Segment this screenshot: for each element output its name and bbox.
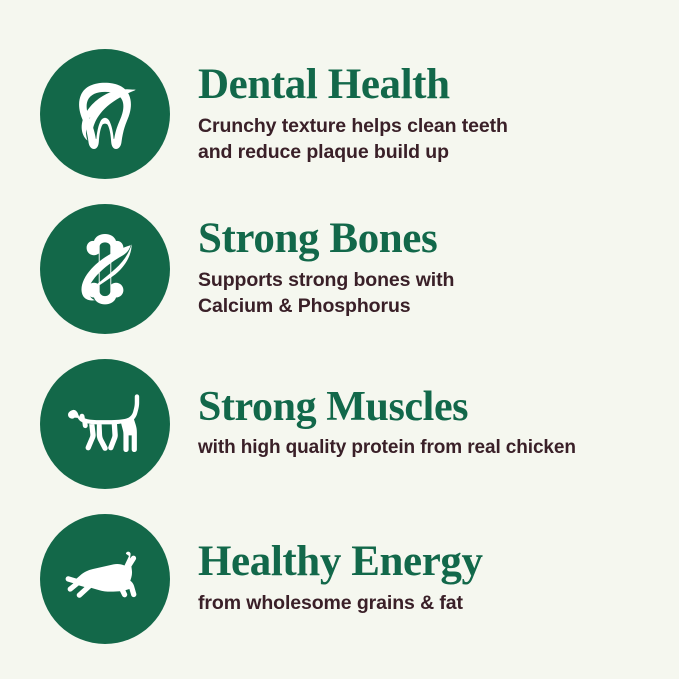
benefit-title: Strong Bones — [198, 217, 661, 261]
benefit-description-line: from wholesome grains & fat — [198, 590, 661, 617]
benefit-text-strong-bones: Strong Bones Supports strong bones with … — [198, 217, 661, 320]
benefit-title: Dental Health — [198, 63, 661, 107]
benefit-text-healthy-energy: Healthy Energy from wholesome grains & f… — [198, 540, 661, 616]
benefit-row-dental-health: Dental Health Crunchy texture helps clea… — [40, 36, 661, 191]
benefit-description-line: Calcium & Phosphorus — [198, 293, 661, 320]
tooth-leaf-icon — [40, 49, 170, 179]
benefit-text-strong-muscles: Strong Muscles with high quality protein… — [198, 386, 661, 461]
benefit-title: Strong Muscles — [198, 386, 661, 429]
benefit-text-dental-health: Dental Health Crunchy texture helps clea… — [198, 63, 661, 166]
benefit-row-strong-muscles: Strong Muscles with high quality protein… — [40, 346, 661, 501]
benefit-description: from wholesome grains & fat — [198, 590, 661, 617]
benefit-description: Crunchy texture helps clean teeth and re… — [198, 113, 661, 166]
bone-leaf-icon — [40, 204, 170, 334]
benefit-description-line: Crunchy texture helps clean teeth — [198, 113, 661, 140]
leaping-dog-icon — [40, 514, 170, 644]
benefit-title: Healthy Energy — [198, 540, 661, 584]
benefits-panel: Dental Health Crunchy texture helps clea… — [0, 0, 679, 679]
benefit-description: with high quality protein from real chic… — [198, 435, 661, 461]
benefit-description-line: with high quality protein from real chic… — [198, 435, 661, 461]
benefit-description-line: Supports strong bones with — [198, 267, 661, 294]
benefit-description: Supports strong bones with Calcium & Pho… — [198, 267, 661, 320]
standing-dog-icon — [40, 359, 170, 489]
benefit-description-line: and reduce plaque build up — [198, 139, 661, 166]
benefit-row-strong-bones: Strong Bones Supports strong bones with … — [40, 191, 661, 346]
benefit-row-healthy-energy: Healthy Energy from wholesome grains & f… — [40, 501, 661, 656]
